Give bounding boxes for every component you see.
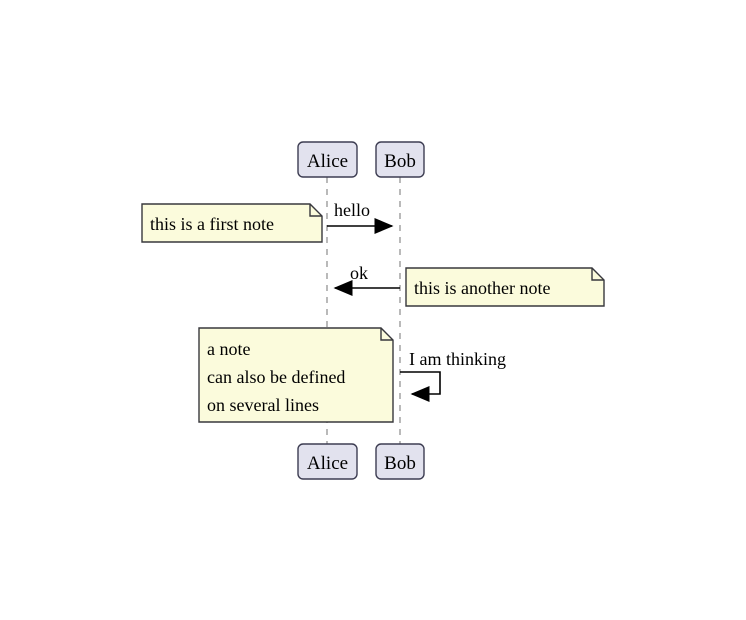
message-self-thinking-loop [400, 372, 440, 394]
message-ok[interactable]: ok [335, 263, 400, 288]
note-another-line-1: this is another note [414, 278, 550, 298]
sequence-diagram-canvas: hello ok I am thinking this is a first n… [0, 0, 746, 620]
message-self-thinking[interactable]: I am thinking [400, 349, 506, 394]
note-first[interactable]: this is a first note [142, 204, 322, 242]
participant-alice-bottom[interactable]: Alice [298, 444, 357, 479]
note-multiline[interactable]: a note can also be defined on several li… [199, 328, 393, 422]
sequence-diagram-svg: hello ok I am thinking this is a first n… [0, 0, 746, 620]
message-hello-label: hello [334, 200, 370, 220]
note-multiline-line-2: can also be defined [207, 367, 345, 387]
participant-bob-top-label: Bob [384, 151, 416, 172]
note-first-line-1: this is a first note [150, 214, 274, 234]
participant-alice-top-label: Alice [307, 151, 348, 172]
note-multiline-line-3: on several lines [207, 395, 319, 415]
participant-bob-top[interactable]: Bob [376, 142, 424, 177]
message-ok-label: ok [350, 263, 368, 283]
participant-alice-top[interactable]: Alice [298, 142, 357, 177]
participant-bob-bottom-label: Bob [384, 453, 416, 474]
participant-bob-bottom[interactable]: Bob [376, 444, 424, 479]
participant-alice-bottom-label: Alice [307, 453, 348, 474]
message-hello[interactable]: hello [327, 200, 392, 226]
message-self-thinking-label: I am thinking [409, 349, 506, 369]
note-another[interactable]: this is another note [406, 268, 604, 306]
note-multiline-line-1: a note [207, 339, 250, 359]
